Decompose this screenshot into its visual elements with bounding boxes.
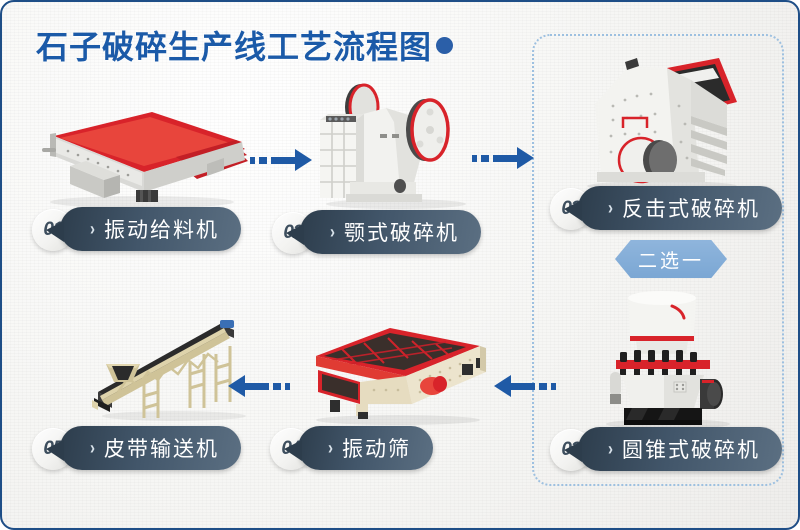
step-pill-04[interactable]: › 振动筛 (298, 426, 433, 470)
machine-impact-crusher (567, 44, 757, 194)
machine-jaw-crusher (308, 72, 478, 212)
page-title: 石子破碎生产线工艺流程图 (36, 22, 432, 68)
choose-one-label: 二选一 (638, 246, 704, 273)
arrow-screen-to-conveyor (228, 375, 290, 397)
chevron-right-icon: › (608, 197, 613, 218)
step-pill-02[interactable]: › 颚式破碎机 (300, 210, 481, 254)
step-pill-03-impact[interactable]: › 反击式破碎机 (578, 186, 782, 230)
machine-vibrating-feeder (24, 94, 249, 209)
choose-one-banner: 二选一 (615, 240, 727, 278)
machine-vibrating-screen (294, 320, 494, 428)
arrow-cone-to-screen (494, 375, 556, 397)
chevron-right-icon: › (90, 218, 95, 239)
flowchart-page: 石子破碎生产线工艺流程图 二选一 (0, 0, 800, 530)
arrow-jaw-to-impact (472, 147, 534, 169)
step-title-03-impact: 反击式破碎机 (622, 193, 760, 223)
chevron-right-icon: › (90, 437, 95, 458)
step-pill-05[interactable]: › 皮带输送机 (60, 426, 241, 470)
step-title-03-cone: 圆锥式破碎机 (622, 434, 760, 464)
step-title-05: 皮带输送机 (104, 433, 219, 463)
machine-cone-crusher (590, 284, 750, 430)
step-title-01: 振动给料机 (104, 214, 219, 244)
step-title-02: 颚式破碎机 (344, 217, 459, 247)
chevron-right-icon: › (328, 437, 333, 458)
step-title-04: 振动筛 (342, 433, 411, 463)
title-dot-icon (436, 37, 453, 54)
step-pill-01[interactable]: › 振动给料机 (60, 207, 241, 251)
arrow-feeder-to-jaw (250, 149, 312, 171)
step-pill-03-cone[interactable]: › 圆锥式破碎机 (578, 427, 782, 471)
chevron-right-icon: › (330, 221, 335, 242)
chevron-right-icon: › (608, 438, 613, 459)
machine-belt-conveyor (84, 300, 264, 422)
